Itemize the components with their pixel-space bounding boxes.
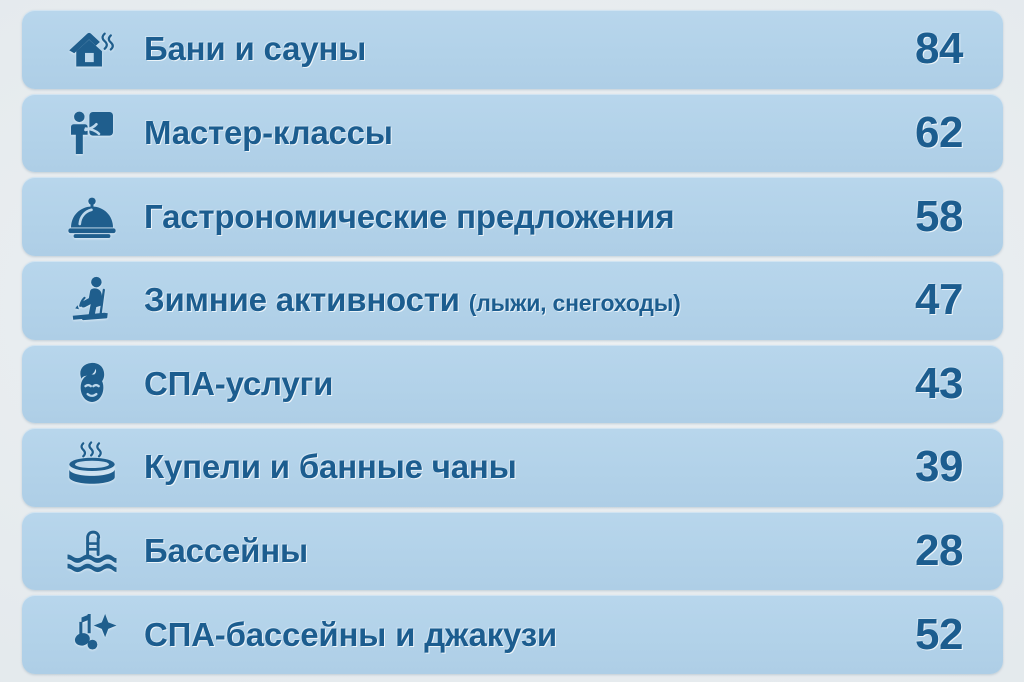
list-item-label-group: Зимние активности (лыжи, снегоходы) [130,281,877,319]
hot-tub-steam-icon [54,428,130,507]
list-item-value: 52 [877,610,981,660]
list-item[interactable]: Бани и сауны 84 [22,10,1003,89]
list-item-label-group: Гастрономические предложения [130,198,877,236]
list-item-sublabel: (лыжи, снегоходы) [469,290,681,317]
masterclass-teacher-icon [54,94,130,173]
list-item[interactable]: СПА-бассейны и джакузи 52 [22,595,1003,674]
list-item-label-group: СПА-услуги [130,365,877,403]
list-item-label-group: СПА-бассейны и джакузи [130,616,877,654]
list-item-label: Зимние активности [144,281,460,319]
list-item-label: СПА-услуги [144,365,333,403]
sauna-house-icon [54,10,130,89]
list-item[interactable]: Зимние активности (лыжи, снегоходы) 47 [22,261,1003,340]
list-item-label: Гастрономические предложения [144,198,674,236]
list-item-label: СПА-бассейны и джакузи [144,616,557,654]
list-item[interactable]: Гастрономические предложения 58 [22,177,1003,256]
spa-face-mask-icon [54,345,130,424]
list-item-label: Купели и банные чаны [144,448,517,486]
list-item-label: Мастер-классы [144,114,393,152]
list-item-label-group: Купели и банные чаны [130,448,877,486]
list-item-value: 47 [877,275,981,325]
services-ranking-list: Бани и сауны 84 Мастер-классы 62 [0,0,1024,682]
list-item-value: 58 [877,192,981,242]
list-item-label-group: Бассейны [130,532,877,570]
list-item-label-group: Мастер-классы [130,114,877,152]
list-item[interactable]: СПА-услуги 43 [22,345,1003,424]
music-note-sparkle-icon [54,595,130,674]
list-item-label: Бани и сауны [144,30,366,68]
list-item-value: 28 [877,526,981,576]
list-item-value: 62 [877,108,981,158]
list-item-value: 84 [877,24,981,74]
list-item-value: 43 [877,359,981,409]
list-item[interactable]: Купели и банные чаны 39 [22,428,1003,507]
list-item-value: 39 [877,442,981,492]
list-item[interactable]: Мастер-классы 62 [22,94,1003,173]
skier-icon [54,261,130,340]
list-item[interactable]: Бассейны 28 [22,512,1003,591]
swimming-pool-ladder-icon [54,512,130,591]
food-cloche-icon [54,177,130,256]
list-item-label-group: Бани и сауны [130,30,877,68]
list-item-label: Бассейны [144,532,308,570]
